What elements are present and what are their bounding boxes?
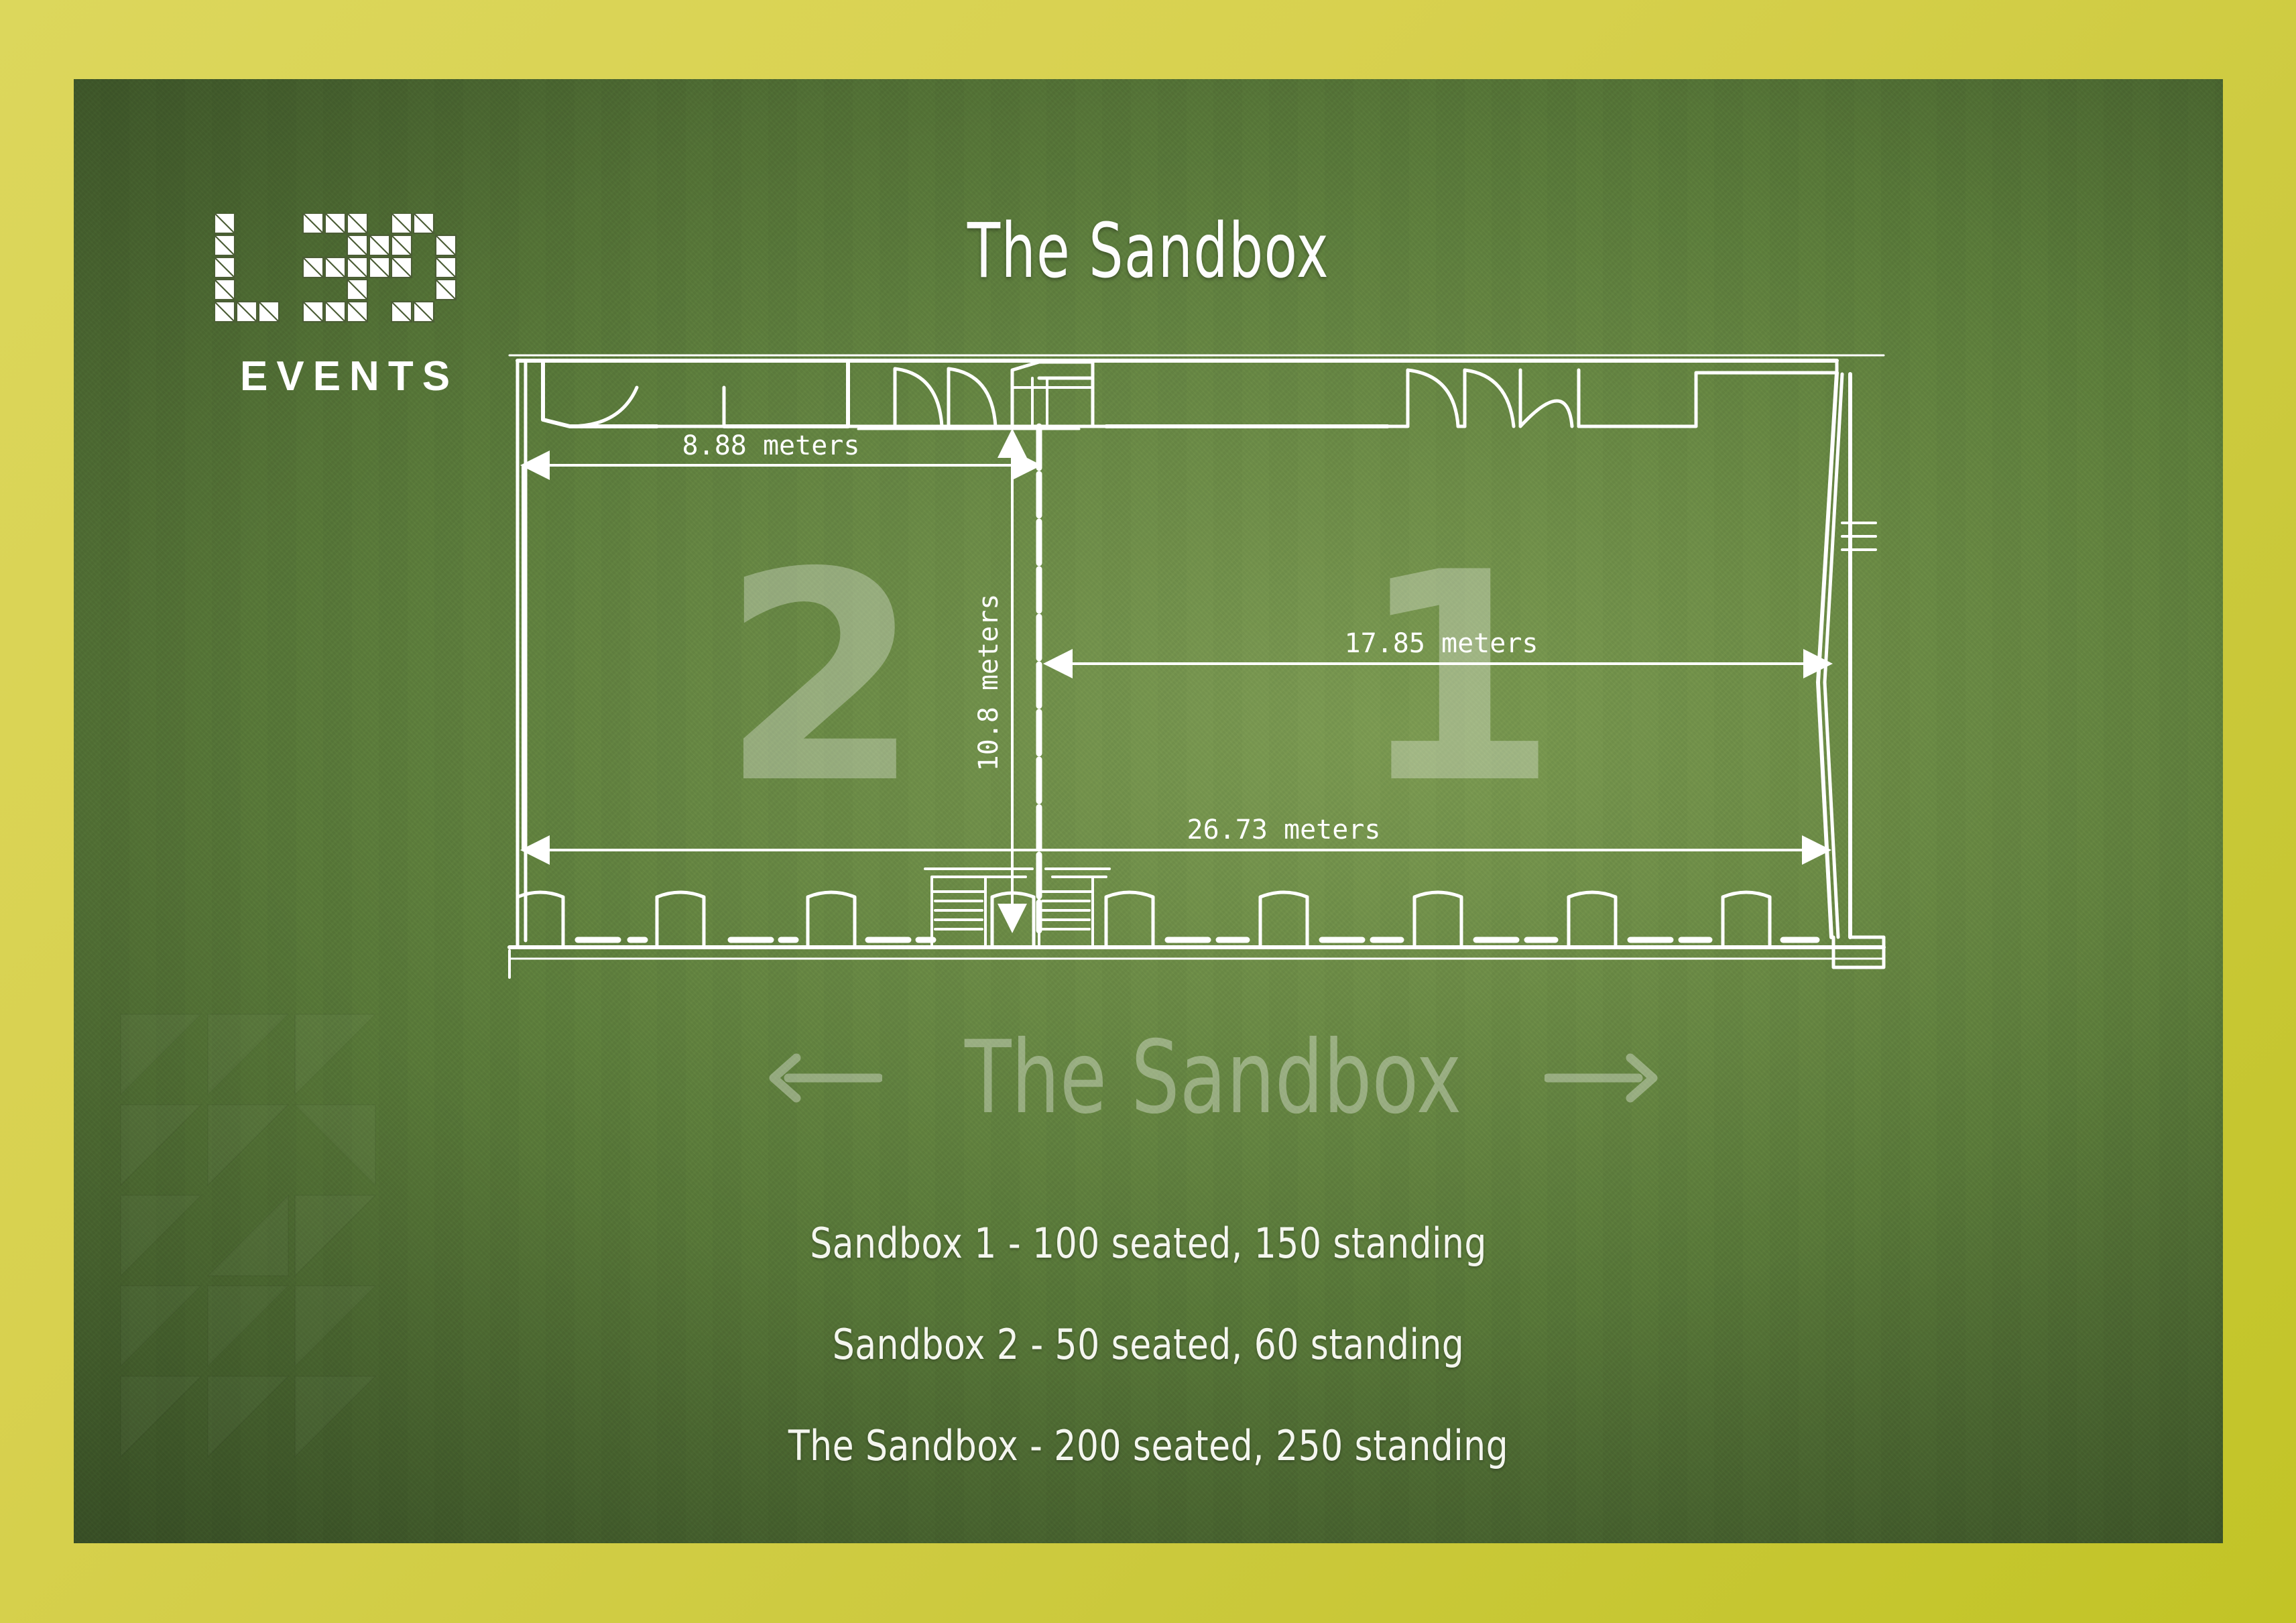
dimension-label-10-8: 10.8 meters (973, 594, 1004, 772)
arrow-right-icon (1545, 1051, 1665, 1105)
arrow-left-icon (762, 1051, 882, 1105)
sandbox-band-label: The Sandbox (965, 1020, 1461, 1136)
page-title: The Sandbox (375, 208, 1922, 295)
capacity-line-sandbox-1: Sandbox 1 - 100 seated, 150 standing (245, 1219, 2051, 1268)
dimension-label-26-73: 26.73 meters (1187, 815, 1381, 845)
capacity-list: Sandbox 1 - 100 seated, 150 standing San… (74, 1219, 2223, 1470)
floor-plan-diagram: 8.88 meters 10.8 meters 17.85 meters 26.… (503, 347, 1911, 984)
dimension-label-17-85: 17.85 meters (1345, 628, 1538, 659)
dimension-label-8-88: 8.88 meters (682, 430, 860, 461)
capacity-line-the-sandbox: The Sandbox - 200 seated, 250 standing (245, 1421, 2051, 1470)
logo-subtitle: EVENTS (240, 353, 468, 400)
capacity-line-sandbox-2: Sandbox 2 - 50 seated, 60 standing (245, 1320, 2051, 1369)
venue-info-panel: EVENTS The Sandbox 2 1 (74, 79, 2223, 1543)
sandbox-direction-band: The Sandbox (503, 1014, 1924, 1142)
